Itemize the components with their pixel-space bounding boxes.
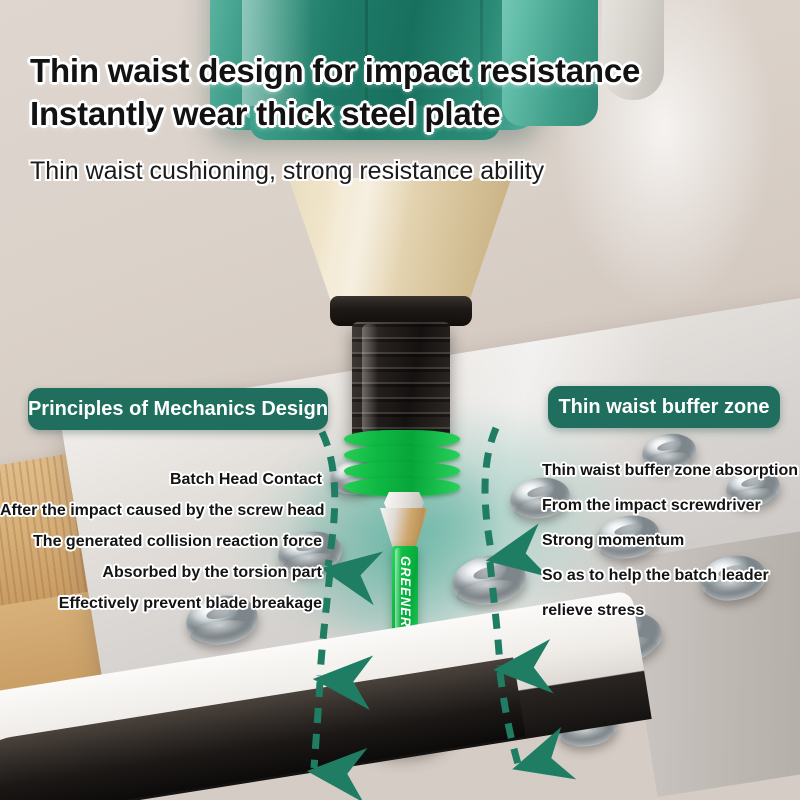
headline-line-2: Instantly wear thick steel plate: [30, 93, 770, 136]
bullet-item: Strong momentum: [542, 533, 800, 549]
product-infographic: GREENER GREENER 绿林: [0, 0, 800, 800]
label-thin-waist-buffer-zone: Thin waist buffer zone: [548, 386, 780, 428]
bullet-item: After the impact caused by the screw hea…: [0, 503, 330, 519]
right-bullet-list: Thin waist buffer zone absorption From t…: [542, 463, 800, 638]
bullet-item: Effectively prevent blade breakage: [0, 596, 330, 612]
bullet-item: The generated collision reaction force: [0, 534, 330, 550]
driver-chuck-highlight: [362, 324, 378, 434]
bullet-item: From the impact screwdriver: [542, 498, 800, 514]
label-principles-of-mechanics-design: Principles of Mechanics Design: [28, 388, 328, 430]
headline: Thin waist design for impact resistance …: [30, 50, 770, 136]
green-helical-spring: [344, 430, 460, 502]
bit-brand-text: GREENER: [397, 556, 413, 627]
headline-line-1: Thin waist design for impact resistance: [30, 50, 770, 93]
subheading: Thin waist cushioning, strong resistance…: [30, 157, 544, 186]
bullet-item: Absorbed by the torsion part: [0, 565, 330, 581]
bullet-item: Thin waist buffer zone absorption: [542, 463, 800, 479]
left-bullet-list: Batch Head Contact After the impact caus…: [0, 472, 330, 627]
dome-screw: [452, 556, 526, 604]
bullet-item: relieve stress: [542, 603, 800, 619]
bullet-item: Batch Head Contact: [0, 472, 330, 488]
bullet-item: So as to help the batch leader: [542, 568, 800, 584]
